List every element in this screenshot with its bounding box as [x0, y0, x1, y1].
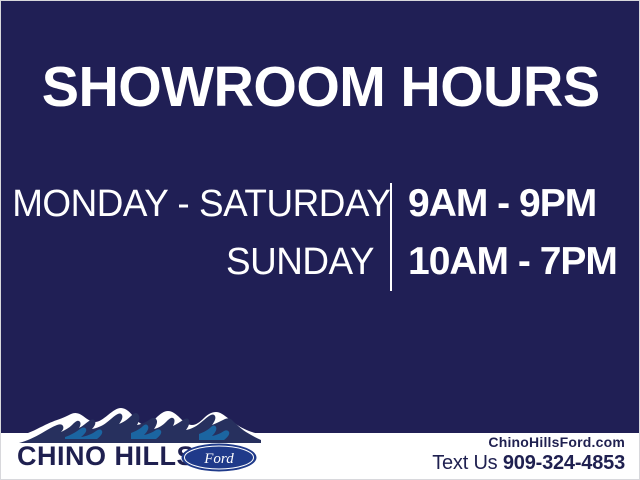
phone-number[interactable]: 909-324-4853 [503, 452, 625, 474]
hours-row: SUNDAY 10AM - 7PM [1, 239, 640, 295]
title-container: SHOWROOM HOURS [1, 59, 640, 116]
hours-time-value: 10AM - 7PM [408, 239, 623, 285]
svg-text:Ford: Ford [203, 451, 234, 467]
hours-table: MONDAY - SATURDAY 9AM - 9PM SUNDAY 10AM … [1, 177, 640, 297]
mountain-range-icon [13, 403, 261, 443]
hours-time-value: 9AM - 9PM [408, 181, 623, 227]
dealer-name: CHINO HILLS [17, 441, 195, 471]
contact-block: ChinoHillsFord.com Text Us 909-324-4853 [432, 433, 625, 475]
hours-days-label: SUNDAY [12, 239, 374, 285]
hours-days-label: MONDAY - SATURDAY [12, 181, 374, 227]
phone-line[interactable]: Text Us 909-324-4853 [432, 451, 625, 475]
showroom-hours-sign: SHOWROOM HOURS MONDAY - SATURDAY 9AM - 9… [0, 0, 640, 480]
ford-oval-icon: Ford [181, 443, 257, 472]
website-link[interactable]: ChinoHillsFord.com [432, 433, 625, 451]
page-title: SHOWROOM HOURS [42, 59, 600, 116]
hours-row: MONDAY - SATURDAY 9AM - 9PM [1, 181, 640, 237]
text-us-label: Text Us [432, 452, 497, 474]
dealer-logo: CHINO HILLS Ford [13, 403, 261, 475]
